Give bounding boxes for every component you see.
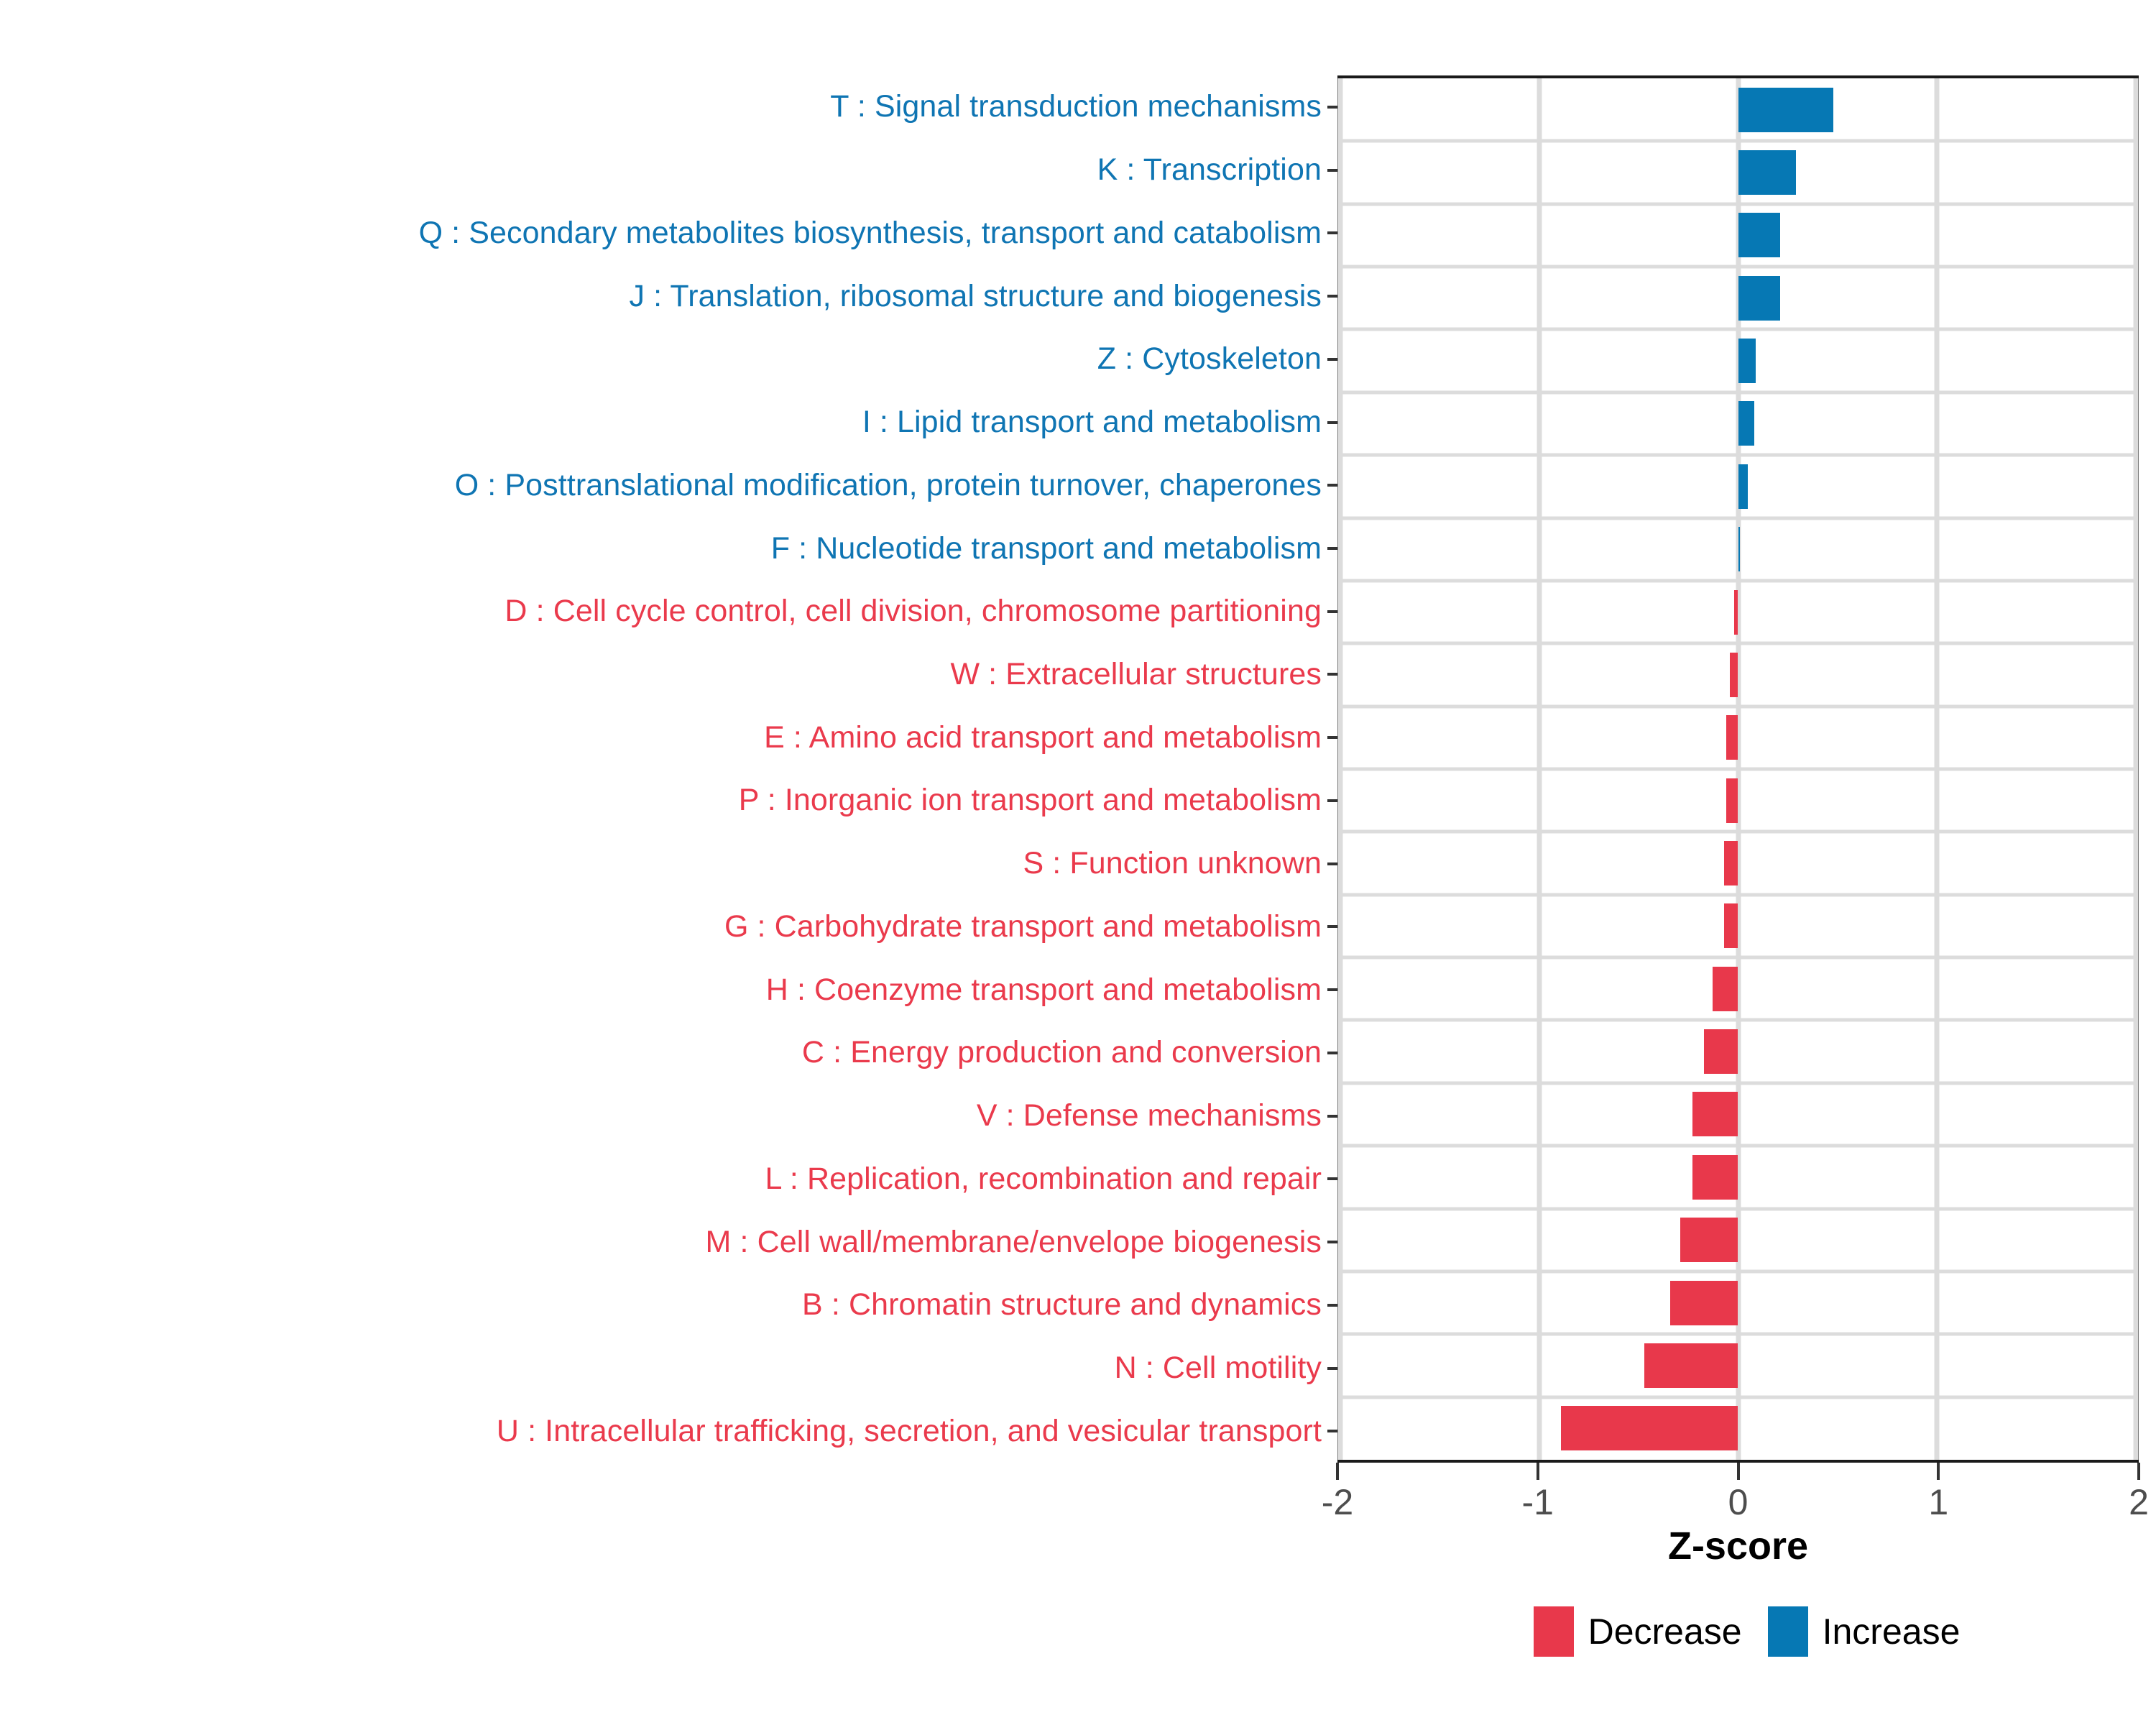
y-axis-label-row: D : Cell cycle control, cell division, c… xyxy=(0,580,1337,643)
x-axis-tick-icon xyxy=(2137,1463,2140,1480)
bar[interactable] xyxy=(1713,967,1738,1011)
y-axis-tick-icon xyxy=(1327,1304,1337,1307)
x-axis-title: Z-score xyxy=(1337,1524,2139,1568)
bar[interactable] xyxy=(1738,527,1741,571)
y-axis-tick-icon xyxy=(1327,295,1337,298)
y-axis-label-row: Z : Cytoskeleton xyxy=(0,328,1337,391)
y-axis-label-row: E : Amino acid transport and metabolism xyxy=(0,706,1337,769)
y-axis-label-row: B : Chromatin structure and dynamics xyxy=(0,1274,1337,1337)
legend-swatch-increase-icon xyxy=(1768,1606,1808,1657)
bar-row xyxy=(1340,329,2136,392)
bar-row xyxy=(1340,267,2136,329)
y-axis-label-row: Q : Secondary metabolites biosynthesis, … xyxy=(0,201,1337,264)
y-axis-label: C : Energy production and conversion xyxy=(802,1037,1322,1068)
bar-row xyxy=(1340,581,2136,643)
bar[interactable] xyxy=(1738,464,1749,509)
plot-panel xyxy=(1337,75,2139,1463)
y-axis-tick-icon xyxy=(1327,673,1337,676)
bar-row xyxy=(1340,1271,2136,1334)
y-axis-label: B : Chromatin structure and dynamics xyxy=(802,1289,1322,1320)
y-axis-label-row: C : Energy production and conversion xyxy=(0,1021,1337,1085)
y-axis-label: H : Coenzyme transport and metabolism xyxy=(766,975,1322,1006)
x-axis-tick-icon xyxy=(1937,1463,1940,1480)
bar[interactable] xyxy=(1644,1343,1738,1388)
y-axis-label: I : Lipid transport and metabolism xyxy=(862,407,1322,438)
x-axis-tick-icon xyxy=(1737,1463,1740,1480)
y-axis-label: M : Cell wall/membrane/envelope biogenes… xyxy=(706,1227,1322,1258)
y-axis-label-row: S : Function unknown xyxy=(0,832,1337,896)
bar[interactable] xyxy=(1726,778,1738,823)
legend-label-increase: Increase xyxy=(1823,1611,1961,1652)
y-axis-label: V : Defense mechanisms xyxy=(977,1100,1322,1131)
y-axis-category-labels: T : Signal transduction mechanismsK : Tr… xyxy=(0,75,1337,1463)
bar-row xyxy=(1340,895,2136,957)
bar[interactable] xyxy=(1680,1218,1738,1262)
y-axis-label-row: O : Posttranslational modification, prot… xyxy=(0,454,1337,517)
bar-row xyxy=(1340,769,2136,832)
x-axis-tick-icon xyxy=(1537,1463,1539,1480)
y-axis-label-row: T : Signal transduction mechanisms xyxy=(0,75,1337,139)
bar-row xyxy=(1340,1334,2136,1397)
bar[interactable] xyxy=(1730,653,1738,697)
y-axis-label-row: I : Lipid transport and metabolism xyxy=(0,391,1337,454)
bar[interactable] xyxy=(1724,841,1738,885)
y-axis-tick-icon xyxy=(1327,1430,1337,1432)
y-axis-label-row: L : Replication, recombination and repai… xyxy=(0,1147,1337,1210)
y-axis-label: D : Cell cycle control, cell division, c… xyxy=(505,596,1322,627)
x-axis-tick-icon xyxy=(1336,1463,1339,1480)
y-axis-tick-icon xyxy=(1327,169,1337,172)
y-axis-tick-icon xyxy=(1327,1052,1337,1054)
bar[interactable] xyxy=(1692,1155,1738,1200)
bar-row xyxy=(1340,204,2136,267)
y-axis-tick-icon xyxy=(1327,231,1337,234)
x-axis-tick-label: -2 xyxy=(1322,1481,1353,1523)
y-axis-label: S : Function unknown xyxy=(1023,848,1322,879)
y-axis-tick-icon xyxy=(1327,610,1337,613)
y-axis-label: E : Amino acid transport and metabolism xyxy=(764,722,1322,753)
cog-category-zscore-chart: T : Signal transduction mechanismsK : Tr… xyxy=(0,0,2156,1725)
y-axis-label: N : Cell motility xyxy=(1115,1353,1322,1384)
legend-swatch-decrease-icon xyxy=(1534,1606,1574,1657)
legend-item-increase[interactable]: Increase xyxy=(1768,1606,1961,1657)
bar[interactable] xyxy=(1734,590,1738,635)
y-axis-tick-icon xyxy=(1327,547,1337,550)
y-axis-tick-icon xyxy=(1327,736,1337,739)
y-axis-label-row: G : Carbohydrate transport and metabolis… xyxy=(0,896,1337,959)
y-axis-tick-icon xyxy=(1327,1367,1337,1370)
bar-row xyxy=(1340,707,2136,769)
y-axis-label: F : Nucleotide transport and metabolism xyxy=(771,533,1322,564)
y-axis-tick-icon xyxy=(1327,988,1337,991)
y-axis-label-row: N : Cell motility xyxy=(0,1337,1337,1400)
bar-row xyxy=(1340,141,2136,203)
y-axis-label: G : Carbohydrate transport and metabolis… xyxy=(724,911,1322,942)
x-axis-tick-label: -1 xyxy=(1522,1481,1554,1523)
y-axis-label: T : Signal transduction mechanisms xyxy=(830,91,1322,122)
bar[interactable] xyxy=(1561,1406,1738,1450)
plot-area xyxy=(1340,78,2136,1460)
y-axis-label: K : Transcription xyxy=(1097,155,1322,185)
bar[interactable] xyxy=(1738,339,1756,383)
y-axis-label: W : Extracellular structures xyxy=(950,659,1322,690)
bar-row xyxy=(1340,518,2136,581)
x-axis-tick-label: 2 xyxy=(2129,1481,2149,1523)
y-axis-label-row: U : Intracellular trafficking, secretion… xyxy=(0,1399,1337,1463)
bar-row xyxy=(1340,78,2136,141)
bar[interactable] xyxy=(1738,88,1834,132)
y-axis-tick-icon xyxy=(1327,106,1337,109)
y-axis-label: J : Translation, ribosomal structure and… xyxy=(629,281,1322,312)
bar-row xyxy=(1340,1020,2136,1082)
bar-row xyxy=(1340,1083,2136,1146)
y-axis-label-row: K : Transcription xyxy=(0,139,1337,202)
bar[interactable] xyxy=(1738,401,1754,446)
y-axis-tick-icon xyxy=(1327,1177,1337,1180)
bar-row xyxy=(1340,643,2136,706)
bar[interactable] xyxy=(1738,150,1796,195)
legend-label-decrease: Decrease xyxy=(1588,1611,1742,1652)
x-axis-tick-label: 0 xyxy=(1728,1481,1749,1523)
y-axis-label-row: J : Translation, ribosomal structure and… xyxy=(0,264,1337,328)
y-axis-tick-icon xyxy=(1327,925,1337,928)
bar-row xyxy=(1340,392,2136,455)
y-axis-label-row: H : Coenzyme transport and metabolism xyxy=(0,958,1337,1021)
y-axis-tick-icon xyxy=(1327,1115,1337,1118)
y-axis-label: U : Intracellular trafficking, secretion… xyxy=(497,1416,1322,1447)
y-axis-label-row: V : Defense mechanisms xyxy=(0,1085,1337,1148)
legend-item-decrease[interactable]: Decrease xyxy=(1534,1606,1742,1657)
y-axis-label: Q : Secondary metabolites biosynthesis, … xyxy=(419,218,1322,249)
legend: Decrease Increase xyxy=(1337,1606,2156,1657)
y-axis-label: P : Inorganic ion transport and metaboli… xyxy=(739,785,1322,816)
y-axis-label: Z : Cytoskeleton xyxy=(1097,344,1322,374)
y-axis-label: L : Replication, recombination and repai… xyxy=(765,1164,1322,1195)
y-axis-tick-icon xyxy=(1327,799,1337,802)
y-axis-label: O : Posttranslational modification, prot… xyxy=(455,470,1322,501)
bar[interactable] xyxy=(1738,276,1780,321)
bar-row xyxy=(1340,957,2136,1020)
y-axis-tick-icon xyxy=(1327,484,1337,487)
y-axis-label-row: W : Extracellular structures xyxy=(0,643,1337,707)
x-axis-tick-label: 1 xyxy=(1928,1481,1948,1523)
bar[interactable] xyxy=(1704,1029,1738,1074)
bar[interactable] xyxy=(1692,1092,1738,1136)
bar[interactable] xyxy=(1726,715,1738,760)
bar-row xyxy=(1340,1208,2136,1271)
y-axis-label-row: M : Cell wall/membrane/envelope biogenes… xyxy=(0,1210,1337,1274)
bar-row xyxy=(1340,455,2136,517)
y-axis-tick-icon xyxy=(1327,862,1337,865)
bar-row xyxy=(1340,1146,2136,1208)
bar[interactable] xyxy=(1724,903,1738,948)
bar-row xyxy=(1340,1397,2136,1460)
bar-row xyxy=(1340,832,2136,894)
y-axis-tick-icon xyxy=(1327,421,1337,424)
y-axis-label-row: P : Inorganic ion transport and metaboli… xyxy=(0,769,1337,832)
bar[interactable] xyxy=(1670,1281,1738,1325)
y-axis-label-row: F : Nucleotide transport and metabolism xyxy=(0,517,1337,580)
bar-series xyxy=(1340,78,2136,1460)
bar[interactable] xyxy=(1738,213,1780,257)
y-axis-tick-icon xyxy=(1327,1241,1337,1243)
y-axis-tick-icon xyxy=(1327,358,1337,361)
